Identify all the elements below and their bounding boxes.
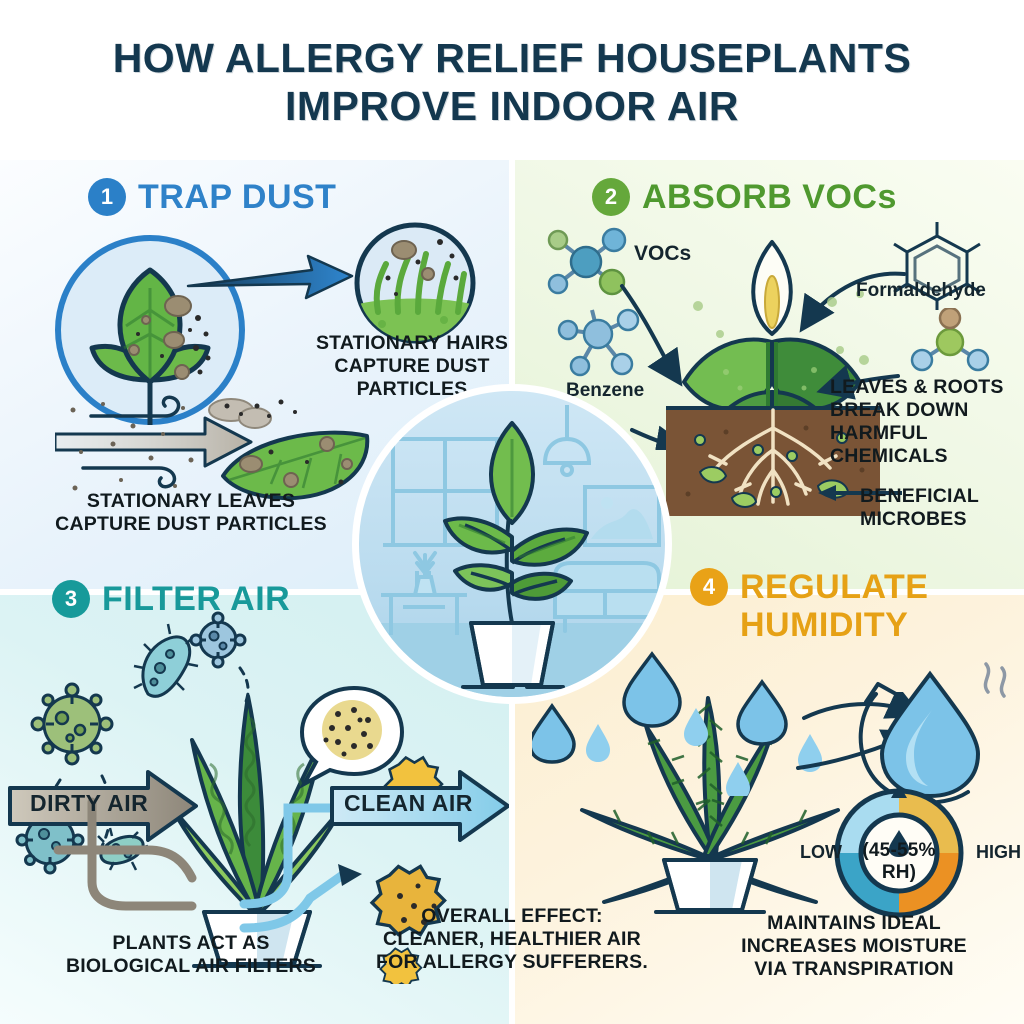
caption-line: HARMFUL [830,422,1020,445]
label-gauge-low: LOW [800,842,842,863]
gauge-value-line: RH) [843,862,955,884]
caption-stationary-leaves: STATIONARY LEAVES CAPTURE DUST PARTICLES [16,490,366,536]
caption-line: MAINTAINS IDEAL [704,912,1004,935]
caption-line: MICROBES [860,508,1024,531]
title-line-2: IMPROVE INDOOR AIR [0,82,1024,130]
gauge-value-line: (45-55% [843,840,955,862]
label-formaldehyde: Formaldehyde [856,280,986,302]
heading-label-4b: HUMIDITY [740,606,928,644]
caption-line: STATIONARY HAIRS [312,332,512,355]
caption-line: BREAK DOWN [830,399,1020,422]
caption-leaves-roots: LEAVES & ROOTS BREAK DOWN HARMFUL CHEMIC… [830,376,1020,468]
step-badge-1: 1 [88,178,126,216]
heading-filter-air: 3 FILTER AIR [52,580,290,618]
heading-trap-dust: 1 TRAP DUST [88,178,336,216]
caption-line: INCREASES MOISTURE [704,935,1004,958]
caption-line: CHEMICALS [830,445,1020,468]
caption-line: VIA TRANSPIRATION [704,958,1004,981]
page-title: HOW ALLERGY RELIEF HOUSEPLANTS IMPROVE I… [0,34,1024,130]
caption-line: LEAVES & ROOTS [830,376,1020,399]
caption-line: CAPTURE DUST [312,355,512,378]
step-badge-4: 4 [690,568,728,606]
caption-line: STATIONARY LEAVES [16,490,366,513]
label-vocs: VOCs [634,242,691,266]
gauge-value: (45-55% RH) [843,840,955,884]
caption-line: BIOLOGICAL AIR FILTERS [16,955,366,978]
heading-regulate-humidity: 4 REGULATE HUMIDITY [690,568,950,644]
arrow-right-blue [186,248,356,308]
caption-plants-filters: PLANTS ACT AS BIOLOGICAL AIR FILTERS [16,932,366,978]
leaf-hairs-circle-illustration [352,220,478,346]
overall-line-3: FOR ALLERGY SUFFERERS. [332,951,692,974]
overall-effect-caption: OVERALL EFFECT: CLEANER, HEALTHIER AIR F… [332,905,692,974]
center-room-scene [352,384,672,704]
overall-line-1: OVERALL EFFECT: [332,905,692,928]
heading-label-4a: REGULATE [740,568,928,606]
caption-line: PLANTS ACT AS [16,932,366,955]
heading-label-3: FILTER AIR [102,580,290,618]
label-dirty-air: DIRTY AIR [30,790,148,817]
caption-maintains-ideal: MAINTAINS IDEAL INCREASES MOISTURE VIA T… [704,912,1004,981]
caption-beneficial-microbes: BENEFICIAL MICROBES [860,485,1024,531]
room-plant-illustration [359,391,665,697]
title-line-1: HOW ALLERGY RELIEF HOUSEPLANTS [0,34,1024,82]
step-badge-2: 2 [592,178,630,216]
step-badge-3: 3 [52,580,90,618]
heading-label-1: TRAP DUST [138,178,336,216]
heading-label-2: ABSORB VOCs [642,178,897,216]
caption-line: BENEFICIAL [860,485,1024,508]
infographic-poster: HOW ALLERGY RELIEF HOUSEPLANTS IMPROVE I… [0,0,1024,1024]
heading-absorb-vocs: 2 ABSORB VOCs [592,178,897,216]
bacteria-cluster-top [126,610,256,720]
caption-line: CAPTURE DUST PARTICLES [16,513,366,536]
overall-line-2: CLEANER, HEALTHIER AIR [332,928,692,951]
label-gauge-high: HIGH [976,842,1021,863]
label-clean-air: CLEAN AIR [344,790,473,817]
